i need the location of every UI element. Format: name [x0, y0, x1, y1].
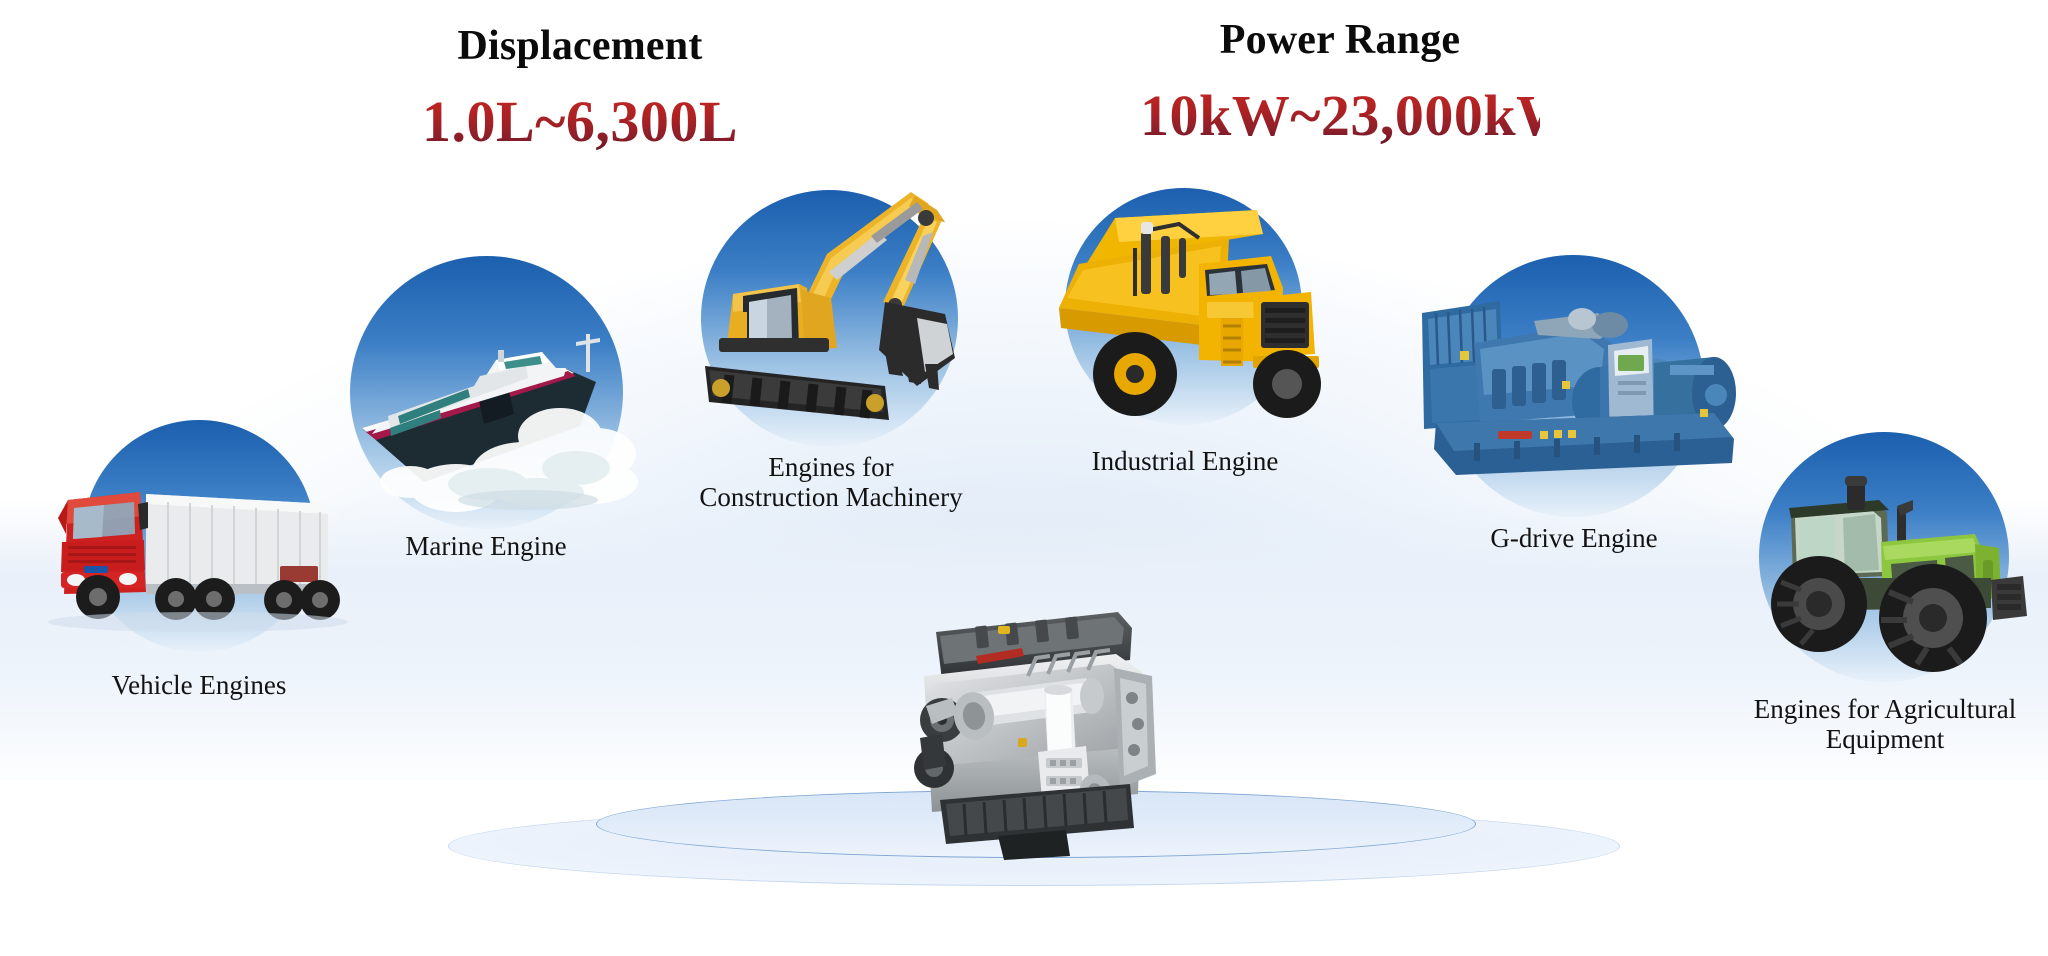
industrial-engine-circle [1065, 188, 1302, 425]
power-range-value: 10kW~23,000kW [1140, 82, 1540, 149]
vehicle-engines-circle [83, 420, 315, 652]
heading-power-range: Power Range 10kW~23,000kW [1140, 16, 1540, 149]
item-industrial-engine[interactable]: Industrial Engine [1065, 188, 1302, 425]
displacement-value: 1.0L~6,300L [380, 88, 780, 155]
center-diesel-engine[interactable] [880, 598, 1170, 860]
item-gdrive-engine[interactable]: G-drive Engine [1442, 255, 1704, 517]
construction-machinery-circle [701, 190, 958, 447]
marine-engine-label: Marine Engine [300, 531, 672, 561]
gdrive-engine-label: G-drive Engine [1402, 523, 1746, 553]
diesel-engine-icon [880, 598, 1170, 860]
displacement-title: Displacement [380, 22, 780, 70]
marine-engine-circle [350, 256, 623, 529]
heading-displacement: Displacement 1.0L~6,300L [380, 22, 780, 155]
gdrive-engine-circle [1442, 255, 1704, 517]
industrial-engine-label: Industrial Engine [990, 446, 1380, 476]
item-construction-machinery[interactable]: Engines for Construction Machinery [701, 190, 958, 447]
item-vehicle-engines[interactable]: Vehicle Engines [83, 420, 315, 652]
item-agricultural-equipment[interactable]: Engines for Agricultural Equipment [1759, 432, 2009, 682]
agricultural-equipment-circle [1759, 432, 2009, 682]
vehicle-engines-label: Vehicle Engines [23, 670, 375, 700]
power-range-title: Power Range [1140, 16, 1540, 64]
item-marine-engine[interactable]: Marine Engine [350, 256, 623, 529]
agricultural-equipment-label: Engines for Agricultural Equipment [1661, 694, 2048, 754]
